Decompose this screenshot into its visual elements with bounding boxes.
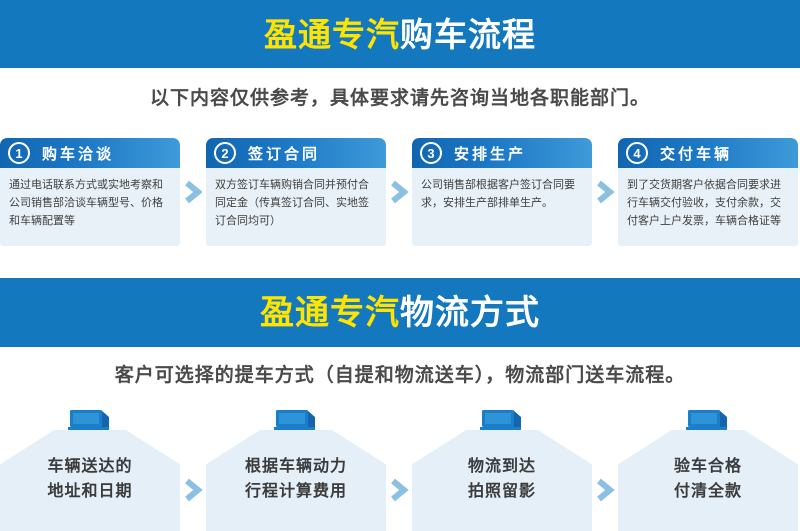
logistics-stage-3-line2: 拍照留影 [412, 480, 592, 505]
logistics-stages-row: 车辆送达的 地址和日期 根据车辆动力 [0, 400, 800, 531]
step-card-1-title: 购车洽谈 [42, 143, 114, 164]
step-card-1[interactable]: 1 购车洽谈 通过电话联系方式或实地考察和公司销售部洽谈车辆型号、价格和车辆配置… [0, 138, 180, 246]
step-card-3-title: 安排生产 [454, 143, 526, 164]
purchase-and-logistics-infographic: 盈通专汽购车流程 以下内容仅供参考，具体要求请先咨询当地各职能部门。 1 购车洽… [0, 0, 800, 531]
logistics-banner-rest: 物流方式 [400, 294, 540, 332]
step-card-2-title: 签订合同 [248, 143, 320, 164]
chevron-right-icon-4 [180, 400, 206, 531]
step-card-3-header: 3 安排生产 [412, 138, 592, 168]
step-card-4-number: 4 [626, 142, 648, 164]
logistics-stage-3-line1: 物流到达 [412, 455, 592, 480]
logistics-stage-4-label: 验车合格 付清全款 [618, 455, 798, 505]
logistics-banner: 盈通专汽物流方式 [0, 278, 800, 347]
purchase-steps-row: 1 购车洽谈 通过电话联系方式或实地考察和公司销售部洽谈车辆型号、价格和车辆配置… [0, 138, 800, 248]
step-card-4[interactable]: 4 交付车辆 到了交货期客户依据合同要求进行车辆交付验收，支付余款，交付客户上户… [618, 138, 798, 246]
logistics-stage-3-label: 物流到达 拍照留影 [412, 455, 592, 505]
logistics-stage-2-line2: 行程计算费用 [206, 480, 386, 505]
logistics-stage-1-line2: 地址和日期 [0, 480, 180, 505]
purchase-banner-rest: 购车流程 [400, 16, 536, 53]
step-card-2-number: 2 [214, 142, 236, 164]
step-card-3-body: 公司销售部根据客户签订合同要求，安排生产部排单生产。 [412, 168, 592, 213]
chevron-right-icon-2 [386, 138, 412, 246]
step-card-1-body: 通过电话联系方式或实地考察和公司销售部洽谈车辆型号、价格和车辆配置等 [0, 168, 180, 230]
step-card-4-body: 到了交货期客户依据合同要求进行车辆交付验收，支付余款，交付客户上户发票，车辆合格… [618, 168, 798, 230]
logistics-stage-2[interactable]: 根据车辆动力 行程计算费用 [206, 400, 386, 531]
logistics-stage-3[interactable]: 物流到达 拍照留影 [412, 400, 592, 531]
step-card-2-body: 双方签订车辆购销合同并预付合同定金（传真签订合同、实地签订合同均可） [206, 168, 386, 230]
step-card-4-header: 4 交付车辆 [618, 138, 798, 168]
logistics-stage-1-label: 车辆送达的 地址和日期 [0, 455, 180, 505]
logistics-stage-4-line1: 验车合格 [618, 455, 798, 480]
chevron-right-icon-3 [592, 138, 618, 246]
step-card-4-title: 交付车辆 [660, 143, 732, 164]
chevron-right-icon-1 [180, 138, 206, 246]
chevron-right-icon-5 [386, 400, 412, 531]
logistics-stage-1[interactable]: 车辆送达的 地址和日期 [0, 400, 180, 531]
logistics-stage-2-label: 根据车辆动力 行程计算费用 [206, 455, 386, 505]
logistics-stage-4-line2: 付清全款 [618, 480, 798, 505]
step-card-3[interactable]: 3 安排生产 公司销售部根据客户签订合同要求，安排生产部排单生产。 [412, 138, 592, 246]
logistics-banner-title: 盈通专汽物流方式 [260, 296, 540, 330]
step-card-2-header: 2 签订合同 [206, 138, 386, 168]
purchase-banner-title: 盈通专汽购车流程 [264, 18, 536, 51]
logistics-banner-brand: 盈通专汽 [260, 294, 400, 332]
logistics-stage-2-line1: 根据车辆动力 [206, 455, 386, 480]
step-card-2[interactable]: 2 签订合同 双方签订车辆购销合同并预付合同定金（传真签订合同、实地签订合同均可… [206, 138, 386, 246]
step-card-1-header: 1 购车洽谈 [0, 138, 180, 168]
purchase-banner-brand: 盈通专汽 [264, 16, 400, 53]
step-card-3-number: 3 [420, 142, 442, 164]
purchase-subtitle: 以下内容仅供参考，具体要求请先咨询当地各职能部门。 [0, 83, 800, 110]
logistics-stage-4[interactable]: 验车合格 付清全款 [618, 400, 798, 531]
step-card-1-number: 1 [8, 142, 30, 164]
logistics-stage-1-line1: 车辆送达的 [0, 455, 180, 480]
logistics-subtitle: 客户可选择的提车方式（自提和物流送车），物流部门送车流程。 [0, 360, 800, 387]
chevron-right-icon-6 [592, 400, 618, 531]
purchase-banner: 盈通专汽购车流程 [0, 0, 800, 68]
